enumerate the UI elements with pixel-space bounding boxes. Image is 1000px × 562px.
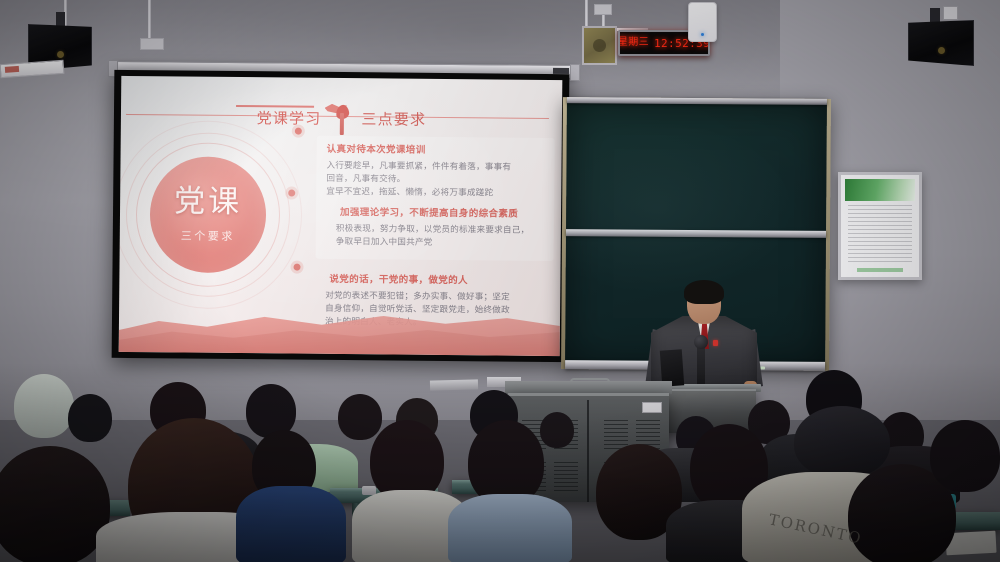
classroom-photo: 星期三 12:52:39 党课学习 三点要求 [0,0,1000,562]
student-hood [14,374,74,438]
camera-label [5,66,19,73]
slide-dot-marker [293,264,300,271]
ceiling-pipe [585,0,588,26]
party-badge-pin-icon [713,340,718,346]
block-line: 争取早日加入中国共产党 [336,236,544,251]
roller-end-right [570,64,580,81]
wifi-access-point [688,2,717,42]
poster-body-text [848,205,912,265]
speaker-cone-icon [938,47,945,54]
clock-day: 星期三 [618,38,649,48]
projection-screen: 党课学习 三点要求 党课 三个要求 [112,70,570,362]
block-heading: 认真对待本次党课培训 [327,144,545,159]
student-head [540,412,574,448]
student-head [930,420,1000,492]
block-line: 宜早不宜迟，拖延、懒惰，必将万事成蹉跎 [326,186,544,201]
badge-sub-text: 三个要求 [181,227,235,244]
conduit-box [943,6,958,20]
slide-badge: 党课 三个要求 [141,148,274,281]
block-heading: 加强理论学习，不断提高自身的综合素质 [340,207,544,222]
slide-block-1: 认真对待本次党课培训 入行要趁早，凡事要抓紧，件件有着落，事事有 回音，凡事有交… [326,144,545,202]
blackboard-rail-middle [566,229,826,238]
poster-header-banner [845,179,915,201]
student-head [68,394,112,442]
conduit-box [140,38,164,50]
slide-title-right: 三点要求 [361,112,426,128]
student-blue-jacket [236,486,346,562]
torch-handle-icon [339,113,343,135]
roller-brand-logo [553,68,569,74]
badge-main-text: 党课 [174,186,242,218]
microphone-head [694,335,708,349]
speaker-mount [930,8,940,22]
sign-emblem-icon [593,39,606,52]
slide-dot-marker [295,128,302,135]
conduit-box [594,4,612,15]
ap-led-icon [701,33,704,36]
slide-dot-marker [288,189,295,196]
blackboard-rail-top [567,97,827,105]
student-head-front [0,446,110,562]
speaker-mount [56,12,65,26]
slide-block-2: 加强理论学习，不断提高自身的综合素质 积极表现，努力争取，以党员的标准来要求自己… [326,207,544,252]
student-head [338,394,382,440]
speaker-cone-icon [57,51,64,58]
student-cap [794,406,890,478]
block-heading: 说党的话，干党的事，做党的人 [329,274,553,289]
wall-sign [582,26,617,65]
torch-flag-icon [326,102,356,136]
wall-speaker-right [908,20,974,66]
projected-slide: 党课学习 三点要求 党课 三个要求 [119,76,563,356]
ceiling-pipe [148,0,151,40]
poster-footer-bar [857,268,903,272]
slide-title-left: 党课学习 [257,111,322,127]
student-lightblue-jacket [448,494,572,562]
presenter-glasses-icon [691,298,717,305]
badge-disc: 党课 三个要求 [149,156,266,273]
slide-text-panel: 认真对待本次党课培训 入行要趁早，凡事要抓紧，件件有着落，事事有 回音，凡事有交… [316,136,555,261]
notice-poster [838,172,922,280]
